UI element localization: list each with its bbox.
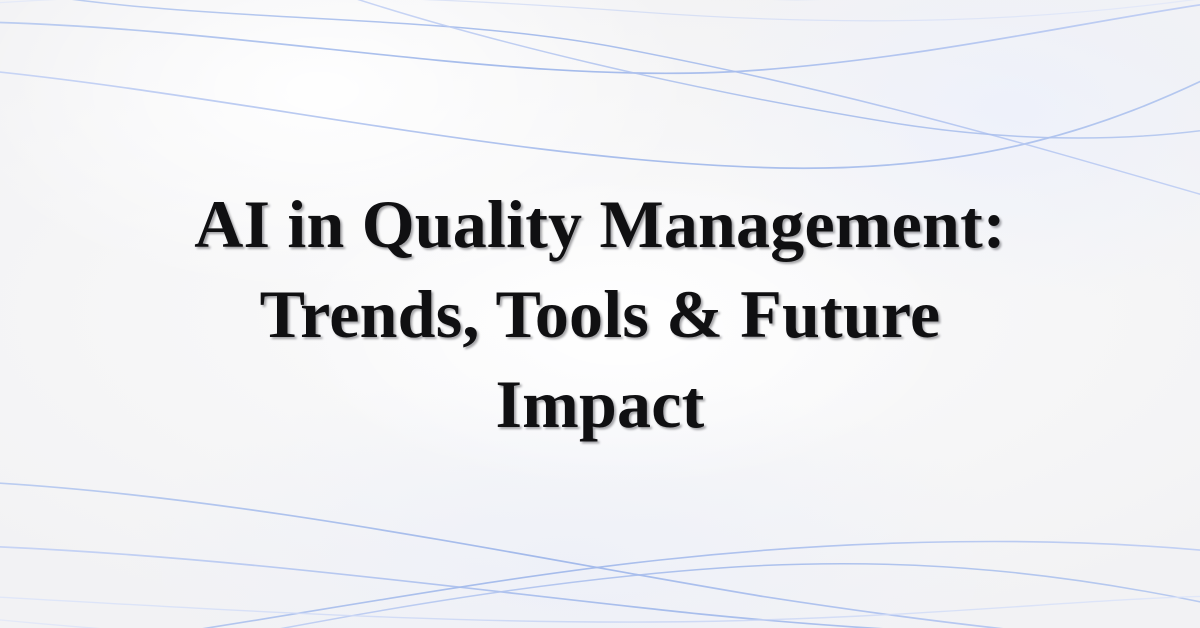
banner-canvas: AI in Quality Management: Trends, Tools …	[0, 0, 1200, 628]
title-block: AI in Quality Management: Trends, Tools …	[0, 0, 1200, 628]
page-title: AI in Quality Management: Trends, Tools …	[60, 179, 1140, 449]
